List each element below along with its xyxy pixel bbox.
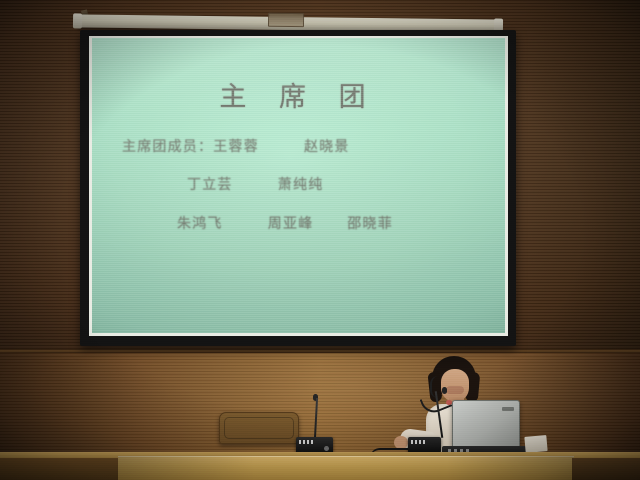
screenshot-scene: 主 席 团 主席团成员：王蓉蓉 赵晓景 丁立芸 萧纯纯 朱鸿飞 周亚峰 邵晓菲 <box>0 0 640 480</box>
laptop-lid[interactable] <box>452 400 520 452</box>
desk-side-left <box>0 458 120 480</box>
led-indicator-strip <box>299 440 315 444</box>
chair-back <box>219 412 299 444</box>
laptop-brand-logo <box>502 407 514 411</box>
volume-knob[interactable] <box>324 446 329 451</box>
housing-end-cap-left <box>73 13 82 28</box>
slide-member-line-1: 主席团成员：王蓉蓉 赵晓景 <box>122 136 350 156</box>
desk-side-right <box>572 458 640 480</box>
projection-screen-frame: 主 席 团 主席团成员：王蓉蓉 赵晓景 丁立芸 萧纯纯 朱鸿飞 周亚峰 邵晓菲 <box>80 30 516 346</box>
ceiling-mount-bracket <box>268 13 304 27</box>
led-indicator-strip <box>411 440 425 444</box>
slide-member-line-2: 丁立芸 萧纯纯 <box>187 174 323 194</box>
presentation-slide: 主 席 团 主席团成员：王蓉蓉 赵晓景 丁立芸 萧纯纯 朱鸿飞 周亚峰 邵晓菲 <box>92 38 505 333</box>
slide-title: 主 席 团 <box>92 75 505 114</box>
microphone-base-unit-right[interactable] <box>408 437 441 453</box>
desk-front-panel <box>118 456 574 480</box>
microphone-head-right <box>442 387 447 394</box>
paper-document <box>524 435 547 453</box>
projection-screen-surface: 主 席 团 主席团成员：王蓉蓉 赵晓景 丁立芸 萧纯纯 朱鸿飞 周亚峰 邵晓菲 <box>92 38 505 333</box>
slide-member-line-3: 朱鸿飞 周亚峰 邵晓菲 <box>177 213 393 233</box>
